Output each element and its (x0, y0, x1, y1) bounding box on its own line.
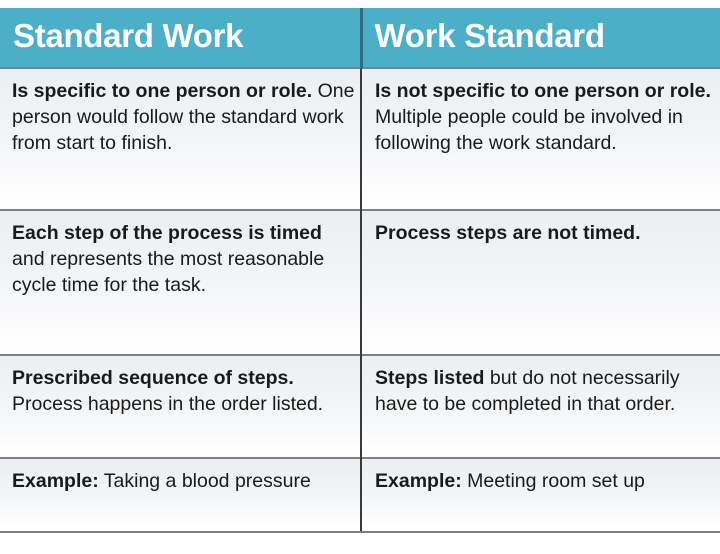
cell-emphasis: Steps listed (375, 367, 484, 389)
cell-emphasis: Example: (12, 470, 99, 492)
table-row: Each step of the process is timed and re… (0, 210, 720, 355)
cell-standard-work-3: Prescribed sequence of steps. Process ha… (0, 355, 361, 458)
table-header-row: Standard Work Work Standard (0, 8, 720, 68)
cell-standard-work-2: Each step of the process is timed and re… (0, 210, 361, 355)
standard-work-comparison-table: Standard Work Work Standard Is specific … (0, 8, 720, 533)
cell-emphasis: Prescribed sequence of steps. (12, 367, 294, 389)
cell-body: and represents the most reasonable cycle… (12, 248, 324, 296)
cell-emphasis: Is not specific to one person or role. (375, 80, 711, 102)
cell-work-standard-1: Is not specific to one person or role. M… (361, 68, 720, 210)
cell-emphasis: Example: (375, 470, 462, 492)
table-row: Is specific to one person or role. One p… (0, 68, 720, 210)
cell-standard-work-4: Example: Taking a blood pressure (0, 458, 361, 532)
column-header-standard-work: Standard Work (0, 8, 361, 68)
column-header-work-standard: Work Standard (361, 8, 720, 68)
cell-body: Meeting room set up (462, 470, 645, 492)
cell-body: Process happens in the order listed. (12, 393, 323, 415)
cell-body: Multiple people could be involved in fol… (375, 106, 683, 154)
cell-emphasis: Each step of the process is timed (12, 222, 322, 244)
cell-work-standard-4: Example: Meeting room set up (361, 458, 720, 532)
cell-emphasis: Is specific to one person or role. (12, 80, 312, 102)
cell-body: Taking a blood pressure (99, 470, 311, 492)
cell-emphasis: Process steps are not timed. (375, 222, 641, 244)
cell-work-standard-2: Process steps are not timed. (361, 210, 720, 355)
cell-standard-work-1: Is specific to one person or role. One p… (0, 68, 361, 210)
table-row: Example: Taking a blood pressure Example… (0, 458, 720, 532)
table-row: Prescribed sequence of steps. Process ha… (0, 355, 720, 458)
cell-work-standard-3: Steps listed but do not necessarily have… (361, 355, 720, 458)
